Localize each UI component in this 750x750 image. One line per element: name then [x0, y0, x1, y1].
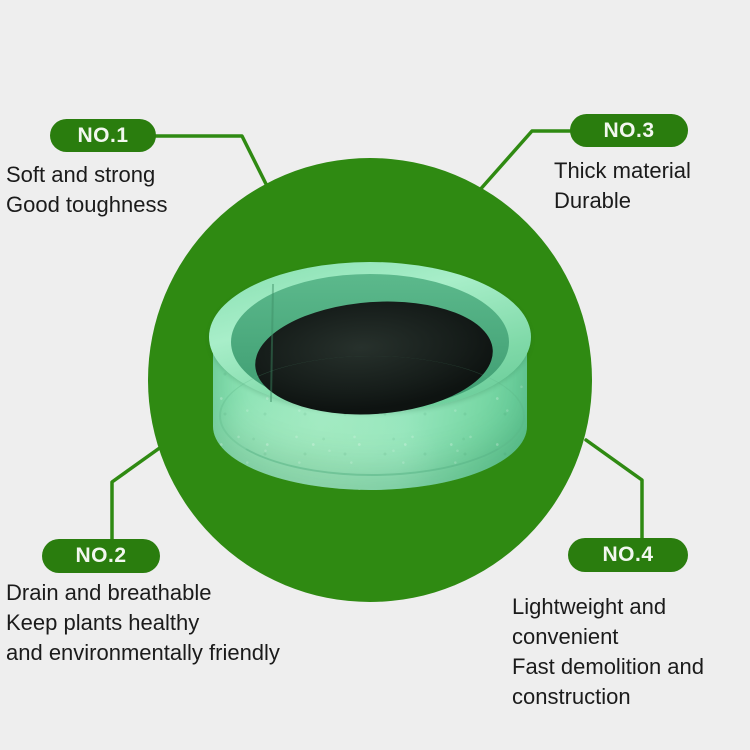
feature-badge-no3: NO.3 — [570, 114, 688, 147]
feature-line: construction — [512, 682, 704, 712]
feature-badge-label-no1: NO.1 — [77, 124, 128, 148]
feature-badge-label-no3: NO.3 — [603, 119, 654, 143]
feature-line: Good toughness — [6, 190, 167, 220]
feature-description-no1: Soft and strong Good toughness — [6, 160, 167, 220]
feature-line: Fast demolition and — [512, 652, 704, 682]
feature-line: Thick material — [554, 156, 691, 186]
connector-line-no4 — [586, 440, 642, 538]
feature-line: and environmentally friendly — [6, 638, 280, 668]
product-circle — [148, 158, 592, 602]
product-image — [205, 260, 535, 510]
infographic-canvas: NO.1 Soft and strong Good toughness NO.2… — [0, 0, 750, 750]
feature-line: Durable — [554, 186, 691, 216]
feature-line: Soft and strong — [6, 160, 167, 190]
feature-badge-label-no2: NO.2 — [75, 544, 126, 568]
feature-line: Drain and breathable — [6, 578, 280, 608]
planter-stitch-line — [219, 356, 525, 476]
feature-badge-no4: NO.4 — [568, 538, 688, 572]
feature-description-no2: Drain and breathable Keep plants healthy… — [6, 578, 280, 668]
feature-line: Keep plants healthy — [6, 608, 280, 638]
feature-line: convenient — [512, 622, 704, 652]
feature-description-no4: Lightweight and convenient Fast demoliti… — [512, 592, 704, 712]
feature-badge-no2: NO.2 — [42, 539, 160, 573]
feature-line: Lightweight and — [512, 592, 704, 622]
feature-description-no3: Thick material Durable — [554, 156, 691, 216]
feature-badge-label-no4: NO.4 — [602, 543, 653, 567]
feature-badge-no1: NO.1 — [50, 119, 156, 152]
